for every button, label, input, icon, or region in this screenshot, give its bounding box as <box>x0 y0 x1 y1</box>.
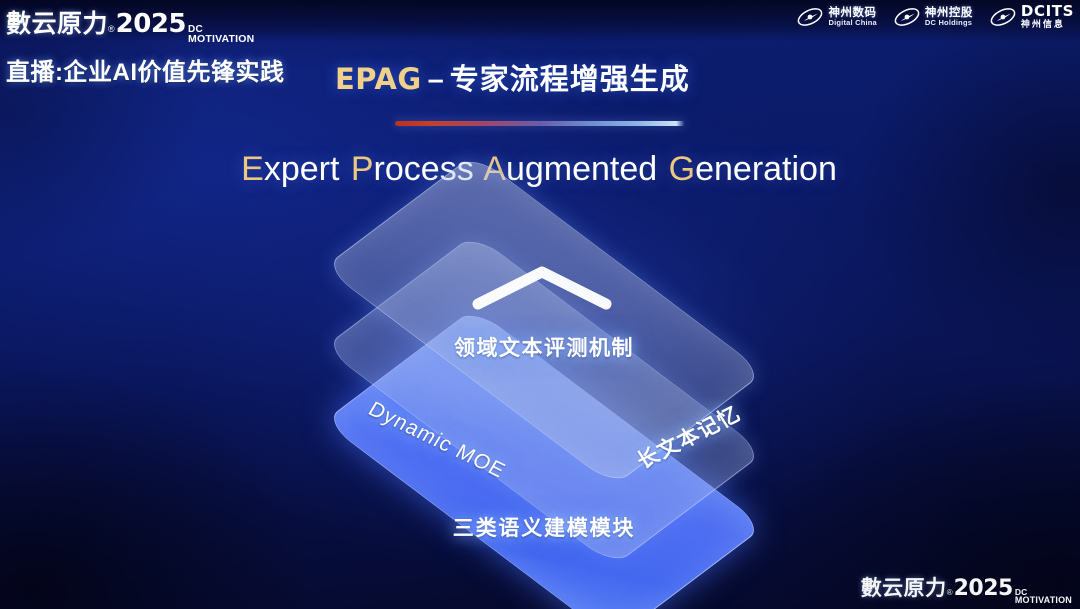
partner-name-en: DCITS <box>1021 4 1074 20</box>
brand-logo-registered: ® <box>108 24 115 34</box>
watermark-logo-registered: ® <box>947 588 953 597</box>
brand-logo-year: 2025 <box>116 9 186 39</box>
subtitle-rest: xpert <box>264 150 340 188</box>
partner-logos: 神州数码 Digital China 神州控股 DC Holdings <box>796 4 1074 29</box>
watermark-logo-year: 2025 <box>954 576 1013 601</box>
diagram-layer-bottom-label: 三类语义建模模块 <box>298 512 790 542</box>
partner-text: 神州数码 Digital China <box>828 7 876 27</box>
partner-name-cn: 神州数码 <box>828 7 876 19</box>
subtitle-rest: eneration <box>695 150 837 188</box>
subtitle-cap: E <box>241 150 264 188</box>
subtitle-cap: P <box>351 150 374 188</box>
diagram-layer-top-label: 领域文本评测机制 <box>298 332 790 362</box>
swirl-logo-icon <box>796 5 824 29</box>
subtitle-word-generation: Generation <box>669 150 837 188</box>
swirl-logo-icon <box>893 5 921 29</box>
swirl-logo-icon <box>989 5 1017 29</box>
title-chinese: 专家流程增强生成 <box>450 64 690 96</box>
title-dash: – <box>422 64 450 96</box>
watermark-logo: 數云原力 ® 2025 DC MOTIVATION <box>861 572 1072 605</box>
partner-name-en: DC Holdings <box>925 19 973 27</box>
live-stream-label: 直播:企业AI价值先锋实践 <box>6 52 285 87</box>
partner-name-cn: 神州信息 <box>1021 20 1074 29</box>
page-title: EPAG–专家流程增强生成 <box>335 56 690 98</box>
brand-logo-cn: 數云原力 <box>6 4 108 40</box>
watermark-logo-motivation: MOTIVATION <box>1015 596 1072 605</box>
title-acronym: EPAG <box>335 62 422 96</box>
subtitle: Expert Process Augmented Generation <box>0 150 1080 189</box>
chevron-up-icon <box>468 264 616 310</box>
brand-logo: 數云原力 ® 2025 DC MOTIVATION <box>6 4 254 44</box>
presentation-slide: 數云原力 ® 2025 DC MOTIVATION 直播:企业AI价值先锋实践 … <box>0 0 1080 609</box>
watermark-logo-dc-motivation: DC MOTIVATION <box>1015 588 1072 605</box>
subtitle-word-expert: Expert <box>241 150 339 188</box>
partner-name-en: Digital China <box>828 19 876 27</box>
gradient-divider <box>395 121 685 126</box>
partner-logo-digital-china: 神州数码 Digital China <box>796 5 876 29</box>
partner-logo-dcits: DCITS 神州信息 <box>989 4 1074 29</box>
partner-text: DCITS 神州信息 <box>1021 4 1074 29</box>
brand-logo-motivation: MOTIVATION <box>188 35 254 45</box>
brand-logo-dc-motivation: DC MOTIVATION <box>188 25 254 44</box>
partner-text: 神州控股 DC Holdings <box>925 7 973 27</box>
layered-architecture-diagram: 领域文本评测机制 Dynamic MOE 长文本记忆 三类语义建模模块 <box>298 228 790 576</box>
watermark-logo-cn: 數云原力 <box>861 572 947 602</box>
subtitle-cap: G <box>669 150 695 188</box>
subtitle-rest: ugmented <box>506 150 657 188</box>
partner-name-cn: 神州控股 <box>925 7 973 19</box>
partner-logo-dc-holdings: 神州控股 DC Holdings <box>893 5 973 29</box>
